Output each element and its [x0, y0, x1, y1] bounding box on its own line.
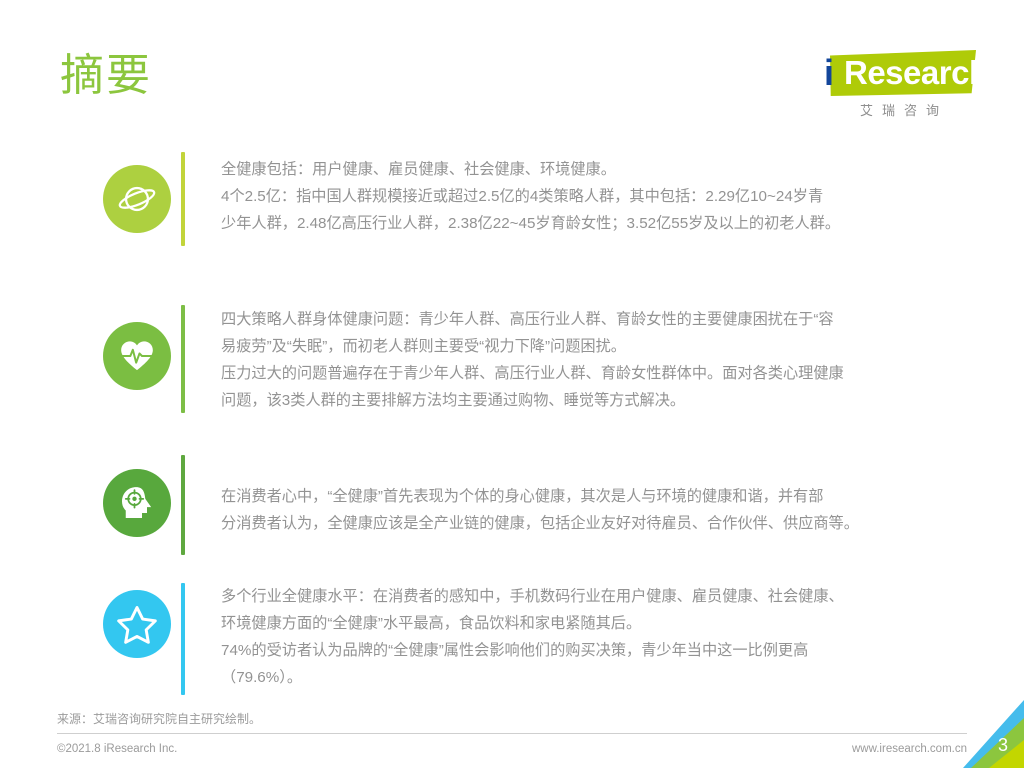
block-3-line-1: 在消费者心中，“全健康”首先表现为个体的身心健康，其次是人与环境的健康和谐，并有… — [221, 483, 941, 510]
block-1-line-3: 少年人群，2.48亿高压行业人群，2.38亿22~45岁育龄女性；3.52亿55… — [221, 210, 941, 237]
block-1-icon-wrap — [103, 165, 171, 233]
head-target-icon — [103, 469, 171, 537]
block-2-line-3: 压力过大的问题普遍存在于青少年人群、高压行业人群、育龄女性群体中。面对各类心理健… — [221, 360, 941, 387]
page-number: 3 — [998, 735, 1008, 756]
block-2-line-4: 问题，该3类人群的主要排解方法均主要通过购物、睡觉等方式解决。 — [221, 387, 941, 414]
logo-mark: i Research — [816, 48, 976, 98]
summary-block-2: 四大策略人群身体健康问题：青少年人群、高压行业人群、育龄女性的主要健康困扰在于“… — [0, 300, 1024, 460]
corner-decoration — [949, 700, 1024, 768]
block-3-accent-bar — [181, 455, 185, 555]
heart-pulse-icon — [103, 322, 171, 390]
block-4-text: 多个行业全健康水平：在消费者的感知中，手机数码行业在用户健康、雇员健康、社会健康… — [221, 583, 941, 691]
star-icon — [103, 590, 171, 658]
slide-root: 摘要 i Research 艾瑞咨询 全健康包括：用户健康、雇员健康、社会健康、 — [0, 0, 1024, 768]
block-4-line-1: 多个行业全健康水平：在消费者的感知中，手机数码行业在用户健康、雇员健康、社会健康… — [221, 583, 941, 610]
block-4-line-3: 74%的受访者认为品牌的“全健康”属性会影响他们的购买决策，青少年当中这一比例更… — [221, 637, 941, 664]
planet-icon — [103, 165, 171, 233]
block-3-line-2: 分消费者认为，全健康应该是全产业链的健康，包括企业友好对待雇员、合作伙伴、供应商… — [221, 510, 941, 537]
copyright-text: ©2021.8 iResearch Inc. — [57, 743, 177, 755]
page-title: 摘要 — [60, 52, 152, 100]
block-2-accent-bar — [181, 305, 185, 413]
logo-letter-i: i — [824, 54, 834, 92]
block-2-text: 四大策略人群身体健康问题：青少年人群、高压行业人群、育龄女性的主要健康困扰在于“… — [221, 306, 941, 414]
block-1-line-1: 全健康包括：用户健康、雇员健康、社会健康、环境健康。 — [221, 156, 941, 183]
summary-block-1: 全健康包括：用户健康、雇员健康、社会健康、环境健康。 4个2.5亿：指中国人群规… — [0, 140, 1024, 290]
footer-divider — [57, 733, 967, 734]
logo-chinese-name: 艾瑞咨询 — [832, 100, 976, 119]
block-3-text: 在消费者心中，“全健康”首先表现为个体的身心健康，其次是人与环境的健康和谐，并有… — [221, 483, 941, 537]
summary-block-4: 多个行业全健康水平：在消费者的感知中，手机数码行业在用户健康、雇员健康、社会健康… — [0, 585, 1024, 725]
block-4-icon-wrap — [103, 590, 171, 658]
block-1-text: 全健康包括：用户健康、雇员健康、社会健康、环境健康。 4个2.5亿：指中国人群规… — [221, 156, 941, 237]
source-note: 来源：艾瑞咨询研究院自主研究绘制。 — [57, 710, 261, 727]
block-2-line-2: 易疲劳”及“失眠”，而初老人群则主要受“视力下降”问题困扰。 — [221, 333, 941, 360]
block-3-icon-wrap — [103, 469, 171, 537]
logo-wordmark: Research — [844, 54, 989, 92]
block-1-line-2: 4个2.5亿：指中国人群规模接近或超过2.5亿的4类策略人群，其中包括：2.29… — [221, 183, 941, 210]
block-2-line-1: 四大策略人群身体健康问题：青少年人群、高压行业人群、育龄女性的主要健康困扰在于“… — [221, 306, 941, 333]
block-2-icon-wrap — [103, 322, 171, 390]
block-4-line-2: 环境健康方面的“全健康”水平最高，食品饮料和家电紧随其后。 — [221, 610, 941, 637]
summary-block-3: 在消费者心中，“全健康”首先表现为个体的身心健康，其次是人与环境的健康和谐，并有… — [0, 455, 1024, 585]
iresearch-logo: i Research 艾瑞咨询 — [816, 48, 976, 122]
block-1-accent-bar — [181, 152, 185, 246]
block-4-line-4: （79.6%）。 — [221, 664, 941, 691]
block-4-accent-bar — [181, 583, 185, 695]
